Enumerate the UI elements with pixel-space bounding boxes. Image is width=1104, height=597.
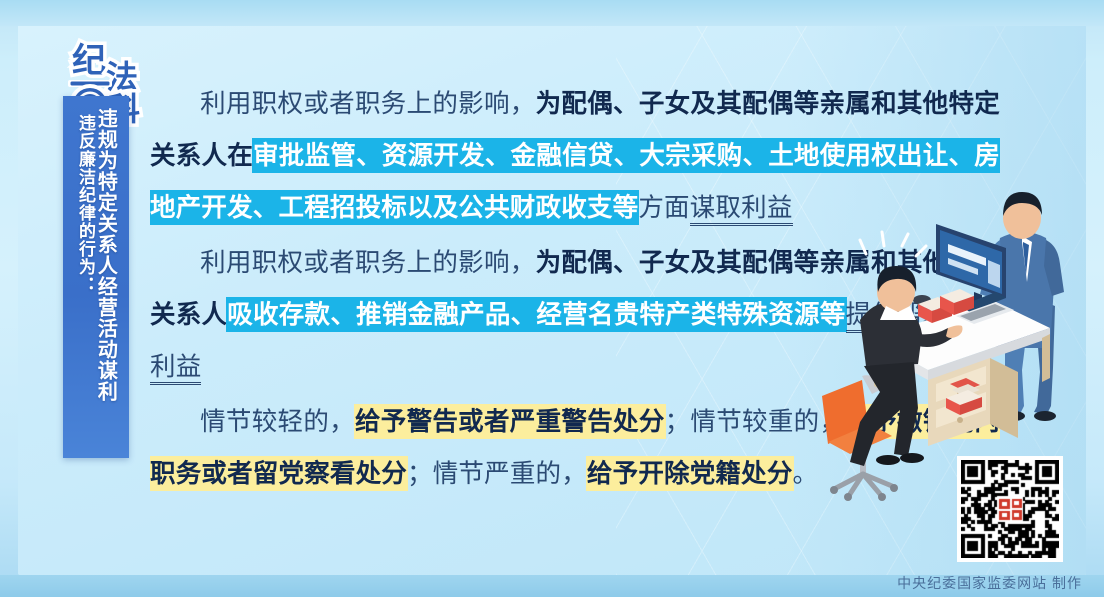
text-run-normal: ；情节严重的， [407,459,587,488]
qr-code-canvas [961,460,1059,558]
vertical-title-banner: 违规为特定关系人经营活动谋利 违反廉洁纪律的行为： [63,96,129,458]
text-run-highlight-cyan: 吸收存款、推销金融产品、经营名贵特产类特殊资源等 [227,298,845,331]
text-run-normal: 情节较轻的， [200,407,355,436]
poster-canvas: 纪 纪 法 法 科 科 违规为特定关系人经营活动谋利 违反廉洁纪律的行为： [0,0,1104,597]
illustration-shock-lines [860,232,926,256]
text-run-normal: 利用职权或者职务上的影响， [200,89,536,118]
banner-title-sub: 违反廉洁纪律的行为： [77,108,94,458]
text-run-normal: 利用职权或者职务上的影响， [200,248,536,277]
logo-char-fa-fill: 法 [106,59,138,95]
qr-code[interactable] [957,456,1063,562]
text-run-highlight-yellow: 给予警告或者严重警告处分 [355,405,665,438]
text-run-highlight-yellow: 给予开除党籍处分 [587,457,793,490]
text-run-underline-double: 谋取利益 [690,193,793,226]
logo-char-ji-fill: 纪 [72,42,106,80]
banner-title-main: 违规为特定关系人经营活动谋利 [95,108,115,458]
text-run-normal: 方面 [638,193,689,222]
footer-credit: 中央纪委国家监委网站 制作 [897,573,1082,593]
background-top-band [0,0,1104,26]
